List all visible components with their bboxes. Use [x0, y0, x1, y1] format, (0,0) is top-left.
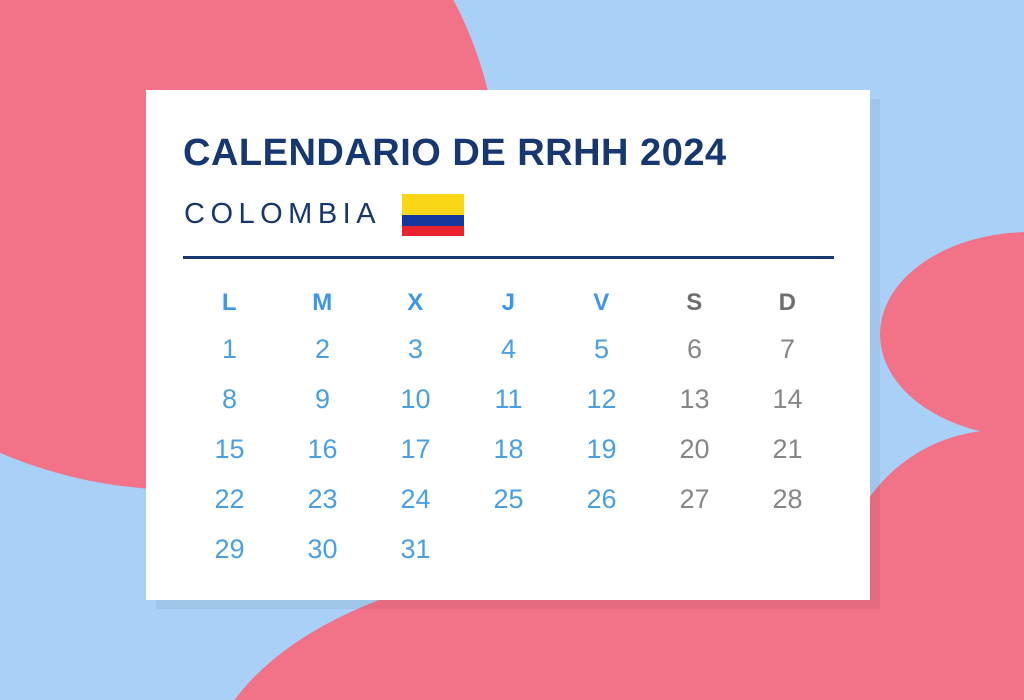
day-cell-4[interactable]: 4 [462, 324, 555, 374]
weekday-header-x: X [369, 282, 462, 324]
weekday-header-d: D [741, 282, 834, 324]
calendar-card: CALENDARIO DE RRHH 2024 COLOMBIA LMXJVSD… [146, 90, 870, 600]
weekday-header-j: J [462, 282, 555, 324]
poster-canvas: CALENDARIO DE RRHH 2024 COLOMBIA LMXJVSD… [0, 0, 1024, 700]
weekday-header-s: S [648, 282, 741, 324]
header-divider [183, 256, 834, 259]
day-cell-7[interactable]: 7 [741, 324, 834, 374]
day-cell-31[interactable]: 31 [369, 524, 462, 574]
day-cell-19[interactable]: 19 [555, 424, 648, 474]
day-cell-6[interactable]: 6 [648, 324, 741, 374]
day-cell-18[interactable]: 18 [462, 424, 555, 474]
day-cell-30[interactable]: 30 [276, 524, 369, 574]
day-cell-5[interactable]: 5 [555, 324, 648, 374]
decorative-blob-right [880, 232, 1024, 437]
weekday-header-v: V [555, 282, 648, 324]
flag-band-red [402, 226, 464, 237]
day-cell-10[interactable]: 10 [369, 374, 462, 424]
day-cell-23[interactable]: 23 [276, 474, 369, 524]
day-cell-26[interactable]: 26 [555, 474, 648, 524]
day-cell-16[interactable]: 16 [276, 424, 369, 474]
day-cell-2[interactable]: 2 [276, 324, 369, 374]
flag-band-blue [402, 215, 464, 226]
day-cell-3[interactable]: 3 [369, 324, 462, 374]
day-cell-empty [462, 524, 555, 574]
day-cell-empty [648, 524, 741, 574]
day-cell-empty [555, 524, 648, 574]
day-cell-24[interactable]: 24 [369, 474, 462, 524]
flag-band-yellow [402, 194, 464, 215]
colombia-flag-icon [402, 194, 464, 236]
page-title: CALENDARIO DE RRHH 2024 [183, 132, 727, 175]
weekday-header-l: L [183, 282, 276, 324]
day-cell-15[interactable]: 15 [183, 424, 276, 474]
calendar-card-inner: CALENDARIO DE RRHH 2024 COLOMBIA LMXJVSD… [183, 90, 833, 600]
day-cell-empty [741, 524, 834, 574]
country-label: COLOMBIA [184, 200, 381, 229]
day-cell-25[interactable]: 25 [462, 474, 555, 524]
day-cell-21[interactable]: 21 [741, 424, 834, 474]
day-cell-14[interactable]: 14 [741, 374, 834, 424]
day-cell-11[interactable]: 11 [462, 374, 555, 424]
day-cell-8[interactable]: 8 [183, 374, 276, 424]
day-cell-17[interactable]: 17 [369, 424, 462, 474]
weekday-header-m: M [276, 282, 369, 324]
day-cell-29[interactable]: 29 [183, 524, 276, 574]
day-cell-22[interactable]: 22 [183, 474, 276, 524]
country-row: COLOMBIA [184, 192, 464, 236]
day-cell-27[interactable]: 27 [648, 474, 741, 524]
day-cell-12[interactable]: 12 [555, 374, 648, 424]
day-cell-13[interactable]: 13 [648, 374, 741, 424]
calendar-grid: LMXJVSD123456789101112131415161718192021… [183, 282, 834, 574]
day-cell-1[interactable]: 1 [183, 324, 276, 374]
day-cell-9[interactable]: 9 [276, 374, 369, 424]
day-cell-28[interactable]: 28 [741, 474, 834, 524]
day-cell-20[interactable]: 20 [648, 424, 741, 474]
